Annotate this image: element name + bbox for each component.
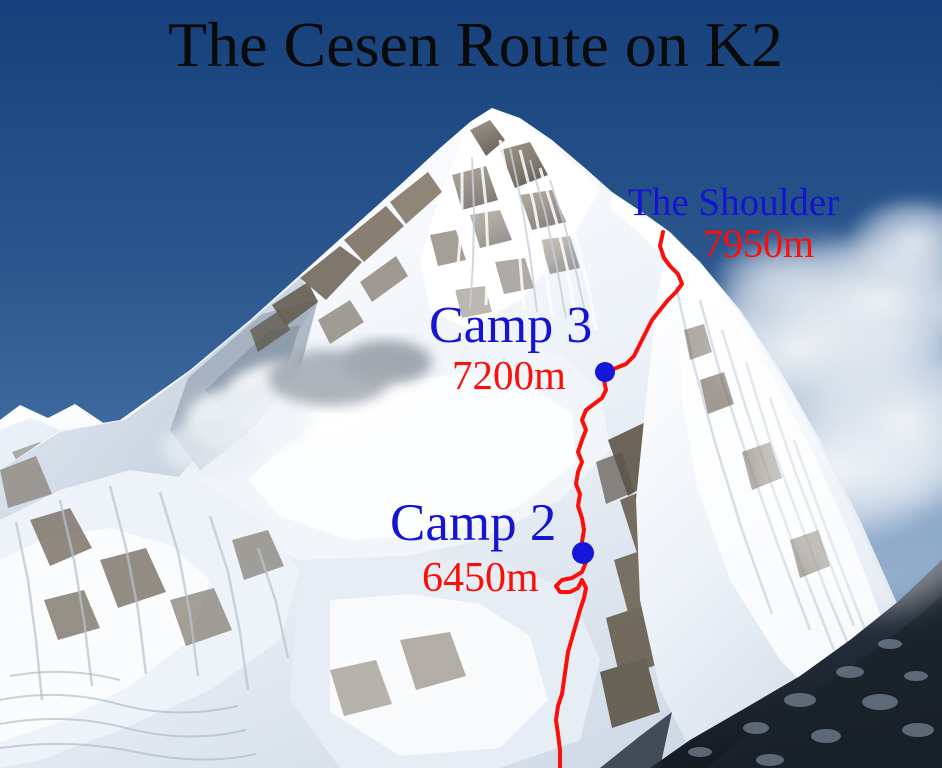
page-title: The Cesen Route on K2 [168,13,783,77]
camp2-marker-dot [572,542,594,564]
camp3-marker-dot [595,362,615,382]
camp2-label: Camp 2 [390,497,556,550]
camp2-elevation-label: 6450m [422,557,539,599]
camp3-elevation-label: 7200m [452,355,566,396]
annotated-photo-canvas: The Cesen Route on K2 The Shoulder 7950m… [0,0,942,768]
shoulder-label: The Shoulder [628,183,839,222]
shoulder-elevation-label: 7950m [703,224,814,264]
camp3-label: Camp 3 [429,300,592,352]
